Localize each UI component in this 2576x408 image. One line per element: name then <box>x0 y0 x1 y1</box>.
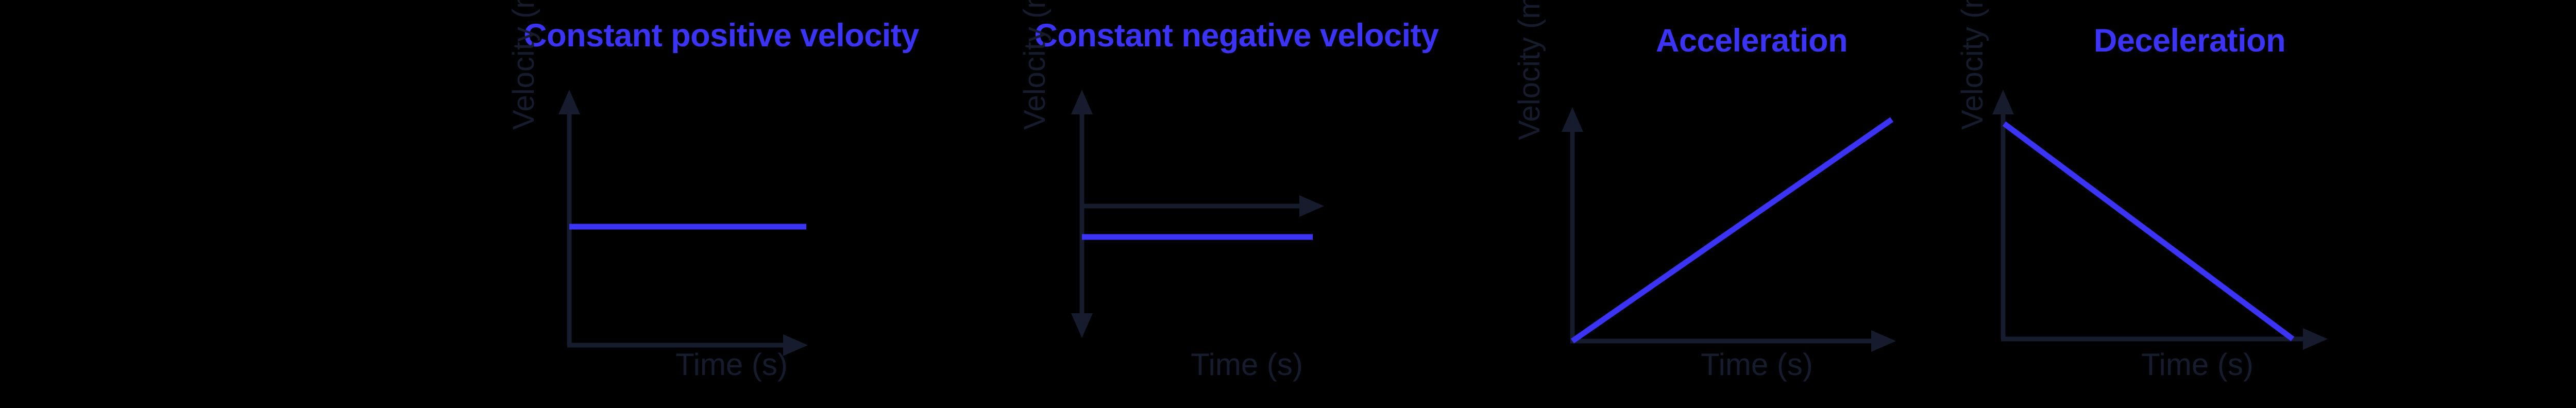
plot-area-constant-negative-velocity <box>979 77 1494 386</box>
y-axis-label-velocity: Velocity (m/s) <box>1957 0 1989 130</box>
y-axis-arrow-up-icon <box>1562 107 1583 132</box>
velocity-time-graphs-figure: Constant positive velocity Velocity (m/s… <box>0 0 2576 408</box>
chart-title-constant-positive-velocity: Constant positive velocity <box>464 18 979 54</box>
x-axis-label-time: Time (s) <box>979 346 1494 383</box>
chart-panel-deceleration: Deceleration Velocity (m/s) Time (s) <box>1932 0 2447 408</box>
chart-title-constant-negative-velocity: Constant negative velocity <box>979 18 1494 54</box>
data-line-deceleration <box>2004 124 2293 339</box>
plot-area-deceleration <box>1932 77 2447 386</box>
x-axis-arrow-right-icon <box>1299 195 1324 217</box>
y-axis-label-velocity: Velocity (m/s) <box>1514 0 1546 140</box>
data-line-acceleration <box>1572 120 1892 341</box>
chart-panel-constant-negative-velocity: Constant negative velocity Velocity (m/s… <box>979 0 1494 408</box>
y-axis-arrow-up-icon <box>1992 90 2014 114</box>
y-axis-label-velocity: Velocity (m/s) <box>1019 0 1051 130</box>
plot-area-constant-positive-velocity <box>464 77 979 386</box>
y-axis-arrow-down-icon <box>1071 313 1093 338</box>
x-axis-label-time: Time (s) <box>1932 346 2447 383</box>
y-axis-arrow-up-icon <box>558 90 580 114</box>
y-axis-label-velocity: Velocity (m/s) <box>508 0 540 130</box>
chart-title-deceleration: Deceleration <box>1932 23 2447 59</box>
x-axis-label-time: Time (s) <box>464 346 979 383</box>
y-axis-arrow-up-icon <box>1071 90 1093 114</box>
chart-panel-constant-positive-velocity: Constant positive velocity Velocity (m/s… <box>464 0 979 408</box>
